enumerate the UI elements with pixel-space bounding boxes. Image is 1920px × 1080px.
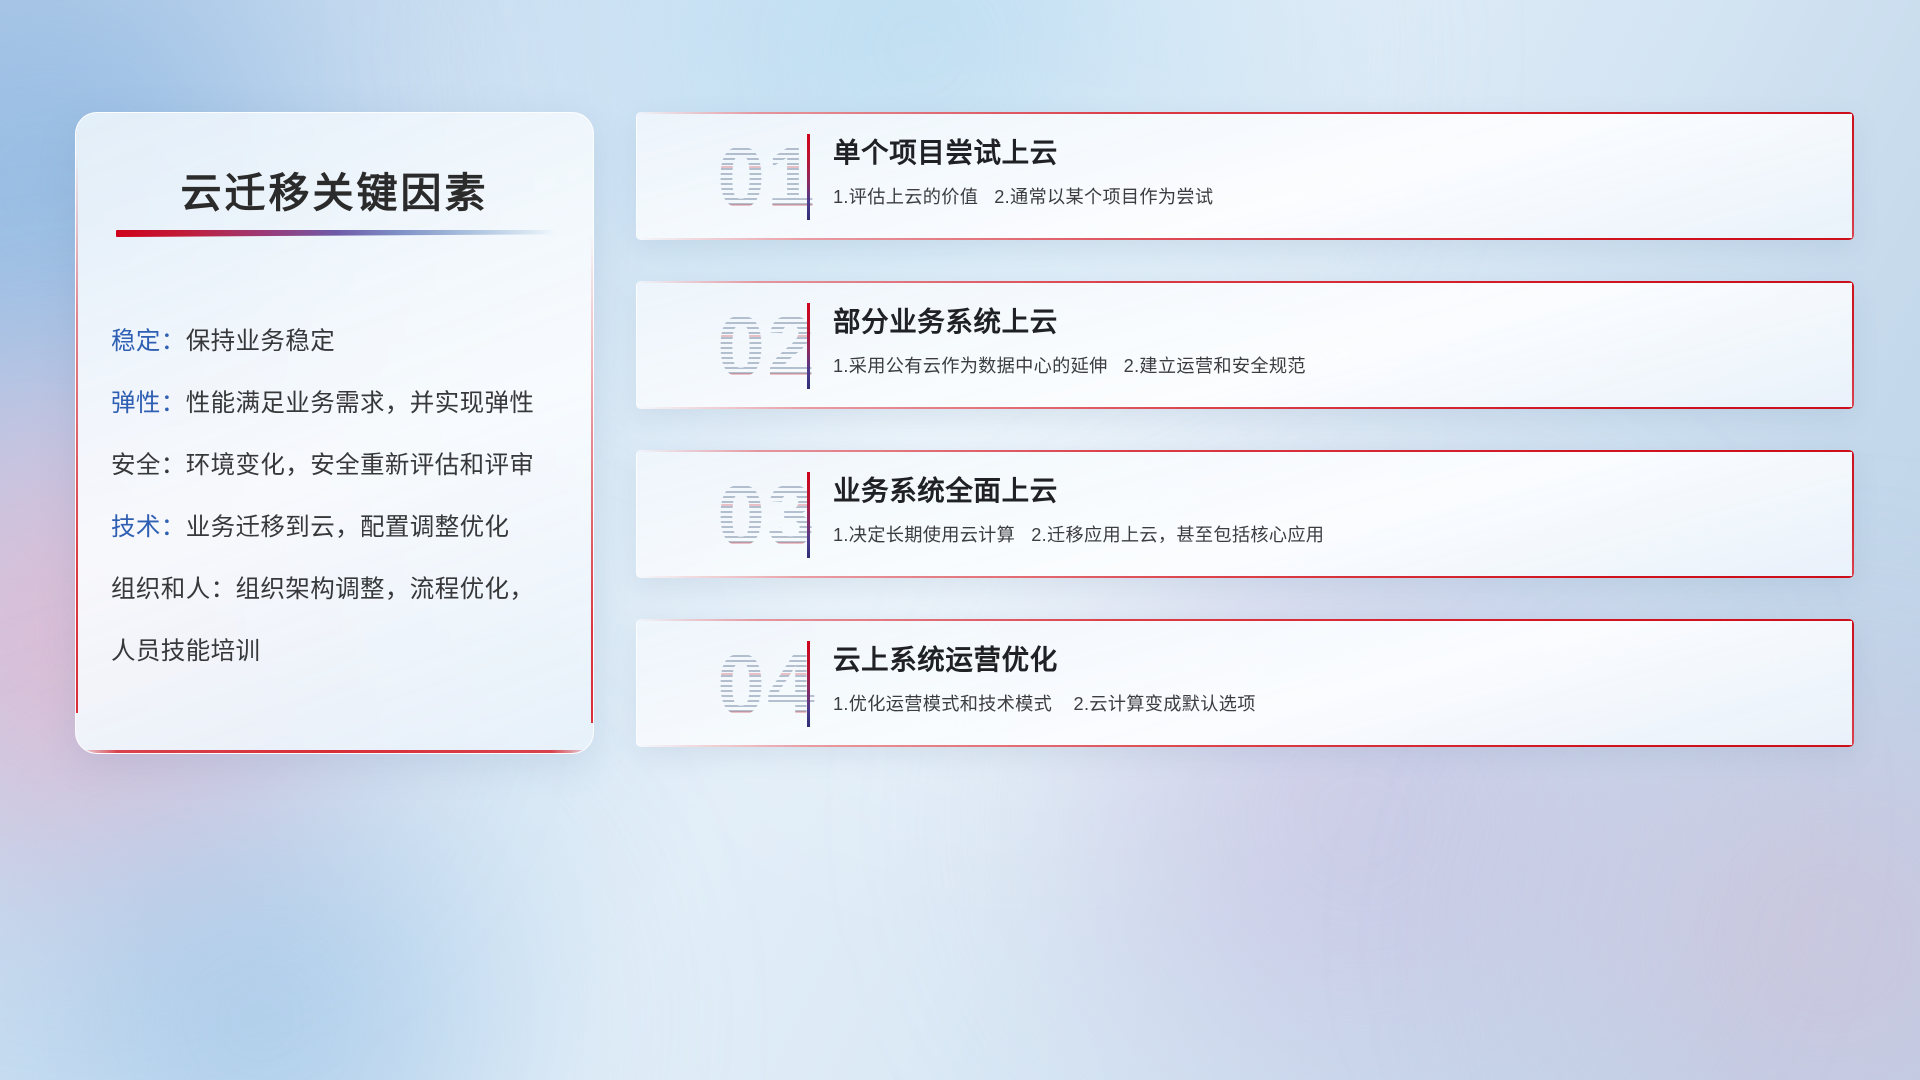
card-subtitle-02: 1.采用公有云作为数据中心的延伸 2.建立运营和安全规范: [833, 353, 1830, 379]
card-right-accent-rule: [1852, 281, 1854, 409]
factor-label-elasticity: 弹性：: [111, 390, 186, 417]
card-title-04: 云上系统运营优化: [833, 639, 1830, 681]
card-body-01: 单个项目尝试上云 1.评估上云的价值 2.通常以某个项目作为尝试: [833, 132, 1830, 210]
card-top-accent-rule: [637, 450, 1854, 452]
factor-label-technology: 技术：: [111, 514, 186, 541]
card-body-03: 业务系统全面上云 1.决定长期使用云计算 2.迁移应用上云，甚至包括核心应用: [833, 470, 1830, 548]
factor-item-organization: 组织和人：组织架构调整，流程优化，: [111, 559, 569, 621]
card-top-accent-rule: [637, 281, 1854, 283]
factor-text-organization-continued: 人员技能培训: [111, 638, 260, 665]
card-top-accent-rule: [637, 619, 1854, 621]
factor-item-security: 安全：环境变化，安全重新评估和评审: [111, 435, 569, 497]
factor-item-stability: 稳定：保持业务稳定: [111, 311, 569, 373]
card-right-accent-rule: [1852, 619, 1854, 747]
card-title-01: 单个项目尝试上云: [833, 132, 1830, 174]
panel-left-accent-rule: [76, 153, 78, 713]
card-body-02: 部分业务系统上云 1.采用公有云作为数据中心的延伸 2.建立运营和安全规范: [833, 301, 1830, 379]
stage-card-03[interactable]: 03 03 业务系统全面上云 1.决定长期使用云计算 2.迁移应用上云，甚至包括…: [636, 450, 1854, 578]
factor-label-organization: 组织和人：: [111, 576, 236, 603]
card-subtitle-01: 1.评估上云的价值 2.通常以某个项目作为尝试: [833, 184, 1830, 210]
card-title-03: 业务系统全面上云: [833, 470, 1830, 512]
factor-text-organization: 组织架构调整，流程优化，: [236, 576, 535, 603]
card-top-accent-rule: [637, 112, 1854, 114]
page-title: 云迁移关键因素: [76, 159, 593, 219]
slide-canvas: 云迁移关键因素 稳定：保持业务稳定 弹性：性能满足业务需求，并实现弹性 安全：环…: [0, 0, 1920, 1080]
factor-text-stability: 保持业务稳定: [186, 328, 335, 355]
factor-list: 稳定：保持业务稳定 弹性：性能满足业务需求，并实现弹性 安全：环境变化，安全重新…: [111, 311, 569, 683]
card-bottom-accent-rule: [637, 238, 1854, 240]
stage-card-02[interactable]: 02 02 部分业务系统上云 1.采用公有云作为数据中心的延伸 2.建立运营和安…: [636, 281, 1854, 409]
factor-label-security: 安全：: [111, 452, 186, 479]
card-title-02: 部分业务系统上云: [833, 301, 1830, 343]
card-divider-rule: [807, 472, 810, 558]
card-subtitle-03: 1.决定长期使用云计算 2.迁移应用上云，甚至包括核心应用: [833, 522, 1830, 548]
factor-item-technology: 技术：业务迁移到云，配置调整优化: [111, 497, 569, 559]
key-factors-panel: 云迁移关键因素 稳定：保持业务稳定 弹性：性能满足业务需求，并实现弹性 安全：环…: [75, 112, 594, 754]
stage-card-list: 01 01 单个项目尝试上云 1.评估上云的价值 2.通常以某个项目作为尝试 0…: [636, 112, 1854, 788]
card-body-04: 云上系统运营优化 1.优化运营模式和技术模式 2.云计算变成默认选项: [833, 639, 1830, 717]
factor-text-security: 环境变化，安全重新评估和评审: [186, 452, 535, 479]
panel-right-accent-rule: [591, 233, 593, 723]
card-divider-rule: [807, 303, 810, 389]
card-right-accent-rule: [1852, 450, 1854, 578]
card-divider-rule: [807, 641, 810, 727]
factor-label-stability: 稳定：: [111, 328, 186, 355]
factor-text-elasticity: 性能满足业务需求，并实现弹性: [186, 390, 535, 417]
title-underline-rule: [116, 230, 556, 237]
card-subtitle-04: 1.优化运营模式和技术模式 2.云计算变成默认选项: [833, 691, 1830, 717]
card-right-accent-rule: [1852, 112, 1854, 240]
card-bottom-accent-rule: [637, 576, 1854, 578]
stage-card-04[interactable]: 04 04 云上系统运营优化 1.优化运营模式和技术模式 2.云计算变成默认选项: [636, 619, 1854, 747]
card-divider-rule: [807, 134, 810, 220]
factor-text-technology: 业务迁移到云，配置调整优化: [186, 514, 510, 541]
card-bottom-accent-rule: [637, 407, 1854, 409]
factor-item-elasticity: 弹性：性能满足业务需求，并实现弹性: [111, 373, 569, 435]
card-bottom-accent-rule: [637, 745, 1854, 747]
factor-item-organization-continued: 人员技能培训: [111, 621, 569, 683]
stage-card-01[interactable]: 01 01 单个项目尝试上云 1.评估上云的价值 2.通常以某个项目作为尝试: [636, 112, 1854, 240]
